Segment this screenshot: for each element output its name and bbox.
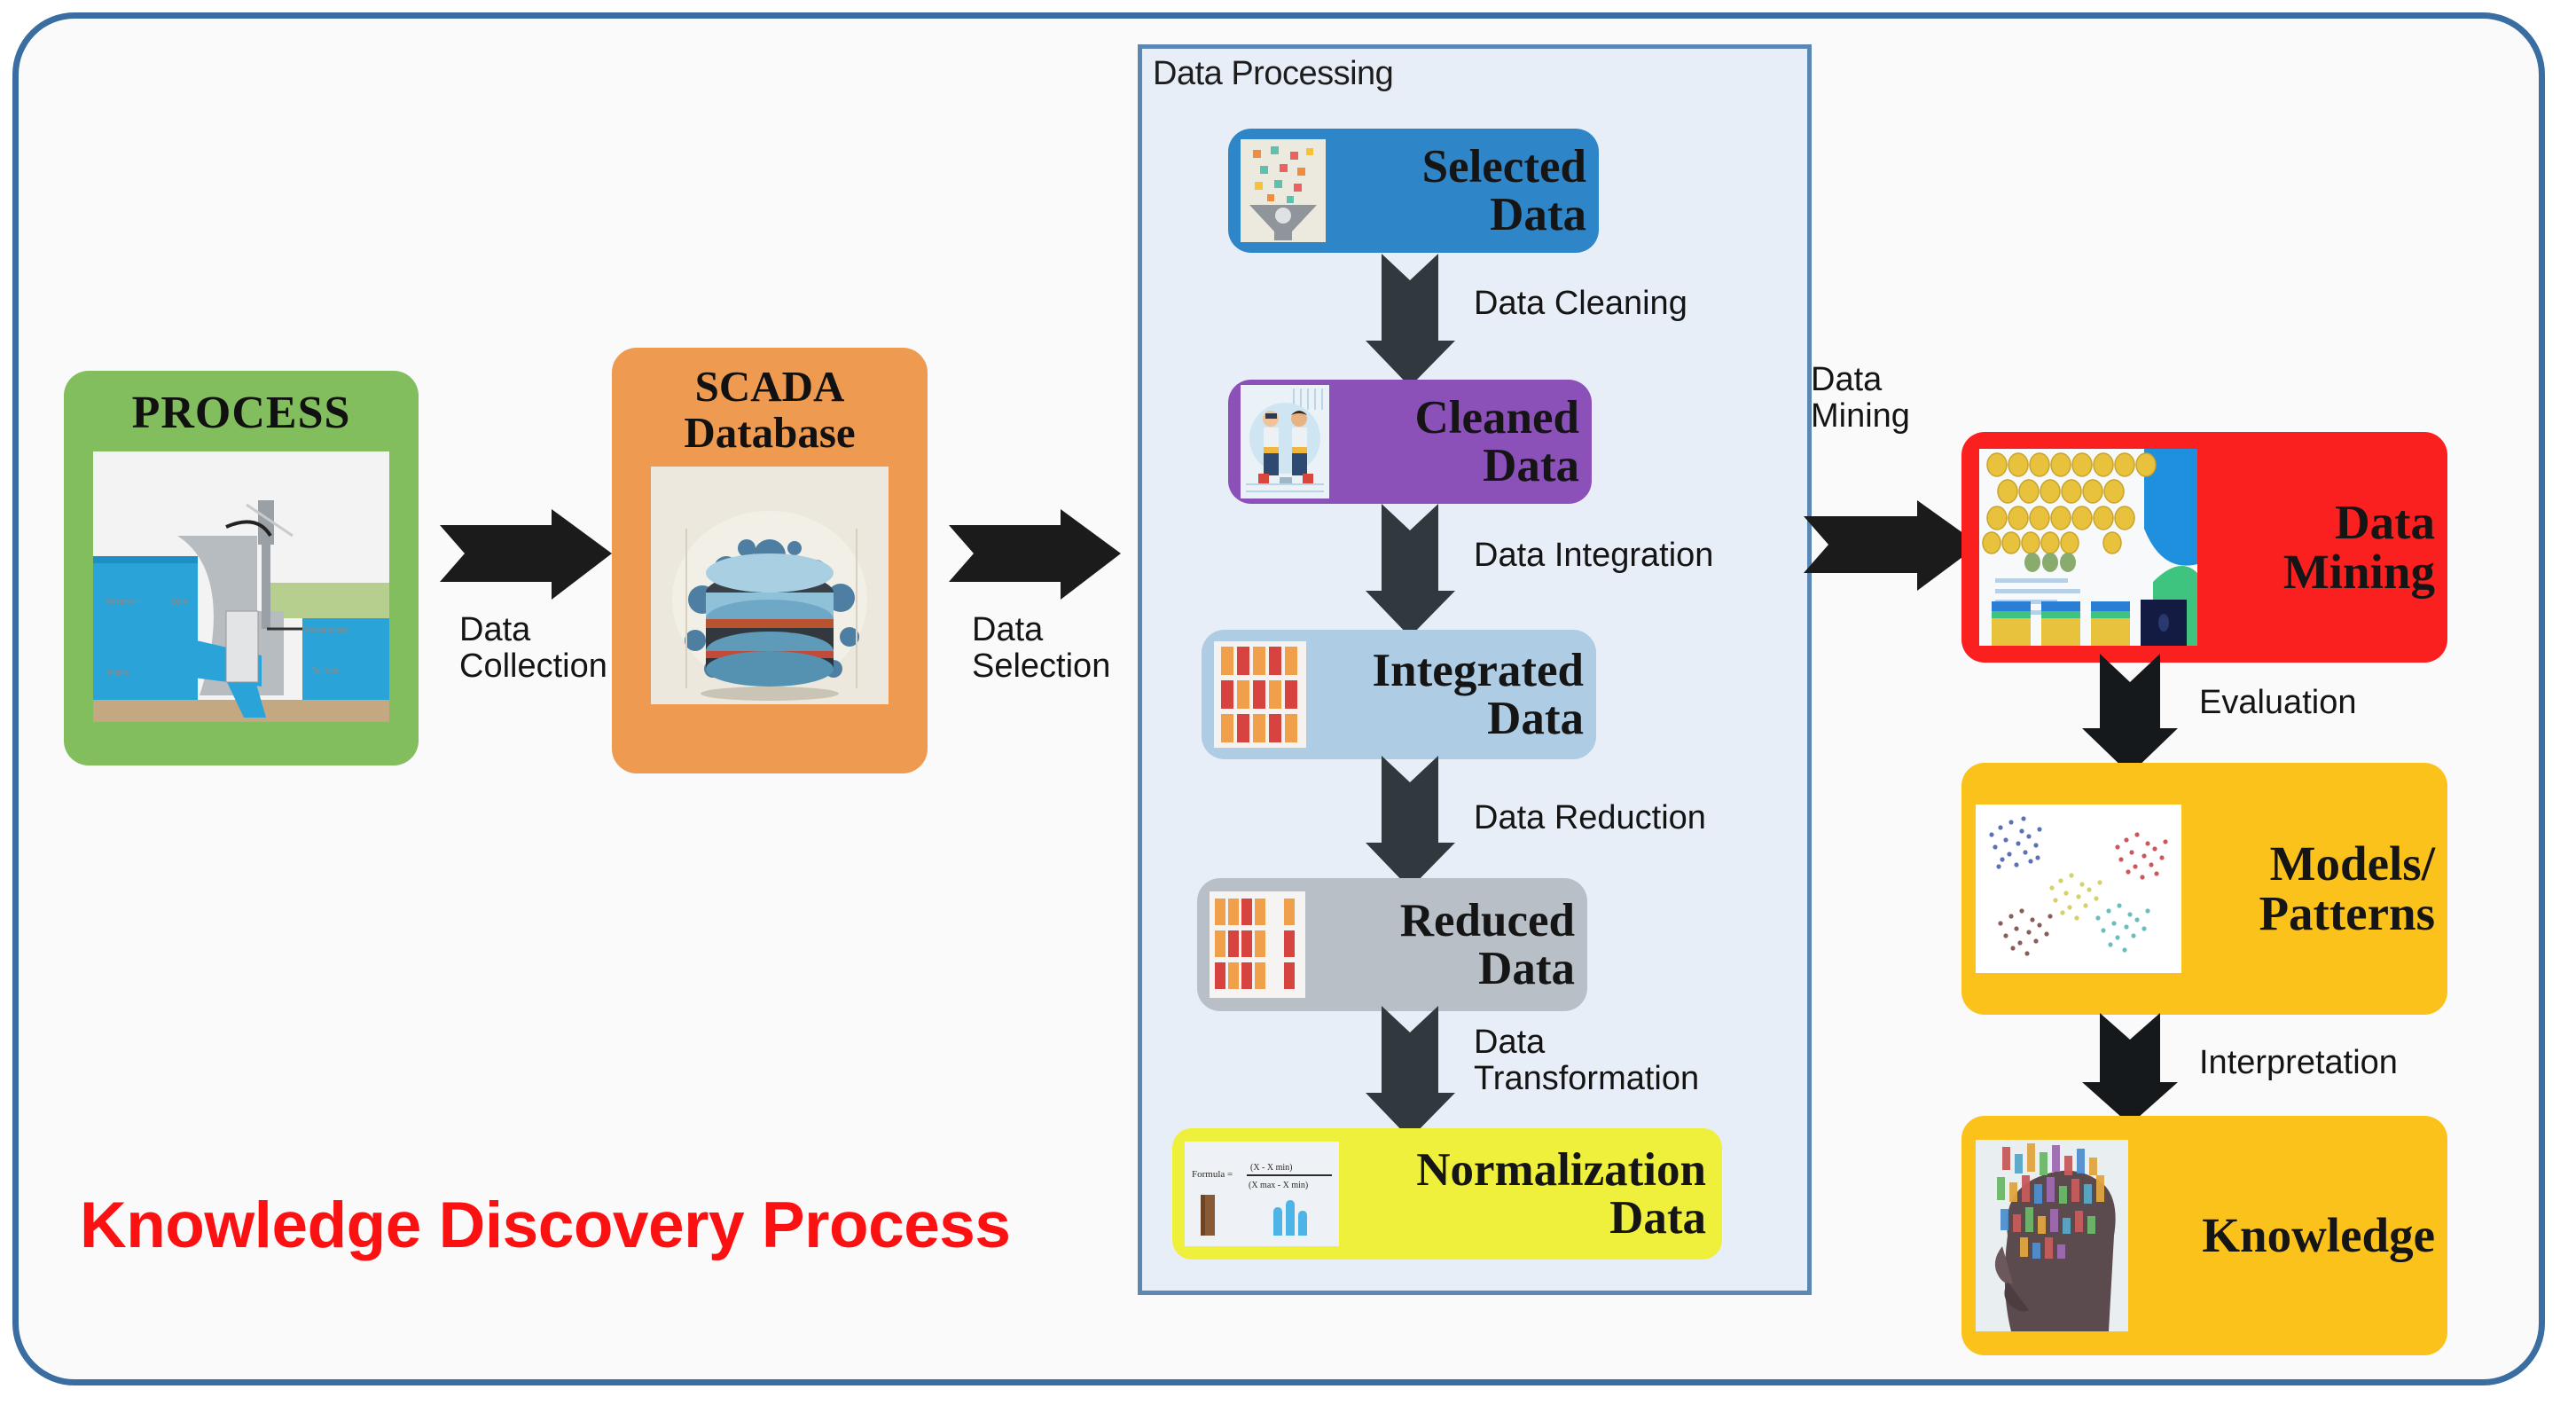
node-normalization-data-label: Normalization Data xyxy=(1339,1146,1722,1242)
node-scada-database[interactable]: SCADA Database xyxy=(612,348,928,773)
node-process-label: PROCESS xyxy=(132,387,351,439)
database-cylinder-image xyxy=(651,467,889,704)
funnel-filter-image xyxy=(1241,139,1326,242)
svg-text:Tailrace: Tailrace xyxy=(311,666,339,675)
svg-text:(X max - X min): (X max - X min) xyxy=(1249,1181,1308,1190)
arrow-data-collection xyxy=(438,507,624,605)
node-scada-label: SCADA Database xyxy=(612,364,928,456)
node-selected-data[interactable]: Selected Data xyxy=(1228,129,1599,253)
edge-label-interpretation: Interpretation xyxy=(2199,1045,2398,1081)
node-process[interactable]: PROCESS Reservoir Dam I xyxy=(64,371,419,765)
cleaning-workers-image xyxy=(1241,385,1329,498)
reduced-grid-bars-image xyxy=(1210,891,1305,998)
arrow-data-reduction xyxy=(1366,754,1463,892)
node-models-patterns-label: Models/ Patterns xyxy=(2181,839,2447,938)
svg-text:(X - X min): (X - X min) xyxy=(1250,1163,1293,1173)
node-reduced-data[interactable]: Reduced Data xyxy=(1197,878,1587,1011)
node-reduced-data-label: Reduced Data xyxy=(1305,897,1587,993)
node-knowledge-label: Knowledge xyxy=(2128,1211,2447,1260)
edge-label-data-reduction: Data Reduction xyxy=(1474,800,1706,836)
cluster-scatter-image xyxy=(1976,805,2181,973)
arrow-evaluation xyxy=(2082,652,2188,776)
hydro-dam-diagram-image: Reservoir Dam Intake Tailrace Powerhouse xyxy=(93,451,389,722)
mining-dashboard-image xyxy=(1979,449,2197,646)
edge-label-evaluation: Evaluation xyxy=(2199,685,2356,721)
node-knowledge[interactable]: Knowledge xyxy=(1961,1116,2447,1355)
arrow-data-integration xyxy=(1366,502,1463,640)
node-integrated-data-label: Integrated Data xyxy=(1306,647,1596,742)
head-ideas-image xyxy=(1976,1140,2128,1331)
svg-text:Reservoir: Reservoir xyxy=(106,597,140,606)
normalization-formula-image: Formula = (X - X min) (X max - X min) xyxy=(1185,1142,1339,1246)
svg-text:Powerhouse: Powerhouse xyxy=(304,625,348,634)
edge-label-data-transformation: Data Transformation xyxy=(1474,1024,1828,1096)
diagram-canvas: PROCESS Reservoir Dam I xyxy=(0,0,2576,1405)
node-integrated-data[interactable]: Integrated Data xyxy=(1202,630,1596,759)
edge-label-data-mining: Data Mining xyxy=(1811,362,1979,434)
node-cleaned-data-label: Cleaned Data xyxy=(1329,394,1592,490)
svg-text:Dam: Dam xyxy=(171,597,188,606)
data-grid-bars-image xyxy=(1214,641,1306,748)
svg-text:Formula =: Formula = xyxy=(1192,1169,1233,1180)
svg-text:Intake: Intake xyxy=(107,668,129,677)
arrow-interpretation xyxy=(2082,1011,2188,1126)
edge-label-data-cleaning: Data Cleaning xyxy=(1474,286,1687,322)
node-selected-data-label: Selected Data xyxy=(1326,143,1599,239)
data-processing-label: Data Processing xyxy=(1153,55,1393,93)
node-cleaned-data[interactable]: Cleaned Data xyxy=(1228,380,1592,504)
edge-label-data-integration: Data Integration xyxy=(1474,538,1713,574)
node-normalization-data[interactable]: Formula = (X - X min) (X max - X min) No… xyxy=(1172,1128,1722,1260)
edge-label-data-selection: Data Selection xyxy=(972,612,1149,684)
arrow-data-transformation xyxy=(1366,1004,1463,1142)
node-data-mining[interactable]: Data Mining xyxy=(1961,432,2447,663)
arrow-data-selection xyxy=(947,507,1133,605)
edge-label-data-collection: Data Collection xyxy=(459,612,619,684)
arrow-data-cleaning xyxy=(1366,252,1463,390)
node-models-patterns[interactable]: Models/ Patterns xyxy=(1961,763,2447,1015)
node-data-mining-label: Data Mining xyxy=(2197,498,2447,597)
page-title: Knowledge Discovery Process xyxy=(80,1189,1011,1262)
